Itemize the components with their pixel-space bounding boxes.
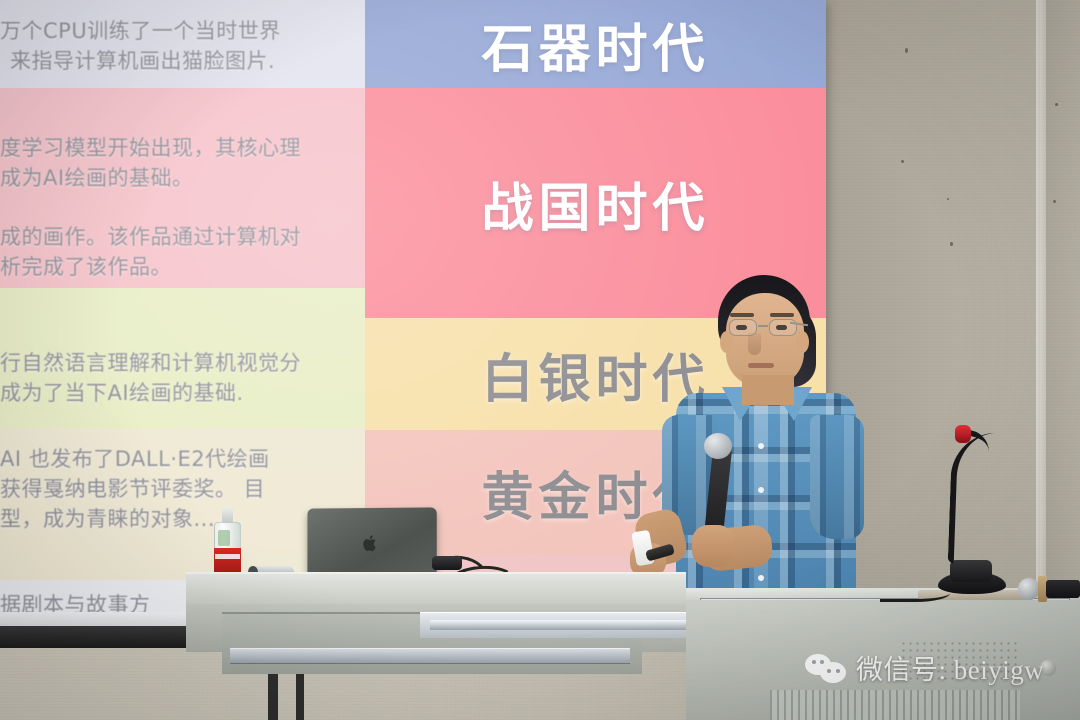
slide-text-line: AI 也发布了DALL·E2代绘画: [0, 444, 366, 474]
wall-speck: [905, 48, 908, 53]
wall-speck: [950, 242, 953, 246]
wechat-logo-icon: [805, 653, 847, 683]
right-sleeve: [810, 415, 864, 539]
wall-speck: [947, 198, 949, 200]
bottle-cap: [222, 508, 233, 523]
slide-text-line: 成为AI绘画的基础。: [0, 163, 366, 193]
shirt-button: [758, 443, 764, 449]
slide-text-line: 万个CPU训练了一个当时世界: [0, 16, 366, 46]
shirt-button: [758, 487, 764, 493]
eyebrow-right: [770, 313, 794, 317]
era-label-stone: 石器时代: [481, 7, 709, 82]
slide-text-line: 成的画作。该作品通过计算机对: [0, 222, 366, 252]
bottle-label: [214, 548, 241, 572]
era-band-stone: 石器时代: [365, 0, 826, 88]
wall-speck: [1053, 200, 1056, 203]
bottle-label-stripe: [215, 554, 240, 559]
console-vents: [770, 690, 1020, 720]
presenter-desk-top: [186, 572, 686, 604]
gooseneck-microphone-tip: [955, 425, 971, 443]
photo-canvas: 石器时代 战国时代 白银时代 黄金时代 万个CPU训练了一个当时世界: [0, 0, 1080, 720]
ear-right: [796, 331, 809, 353]
wall-speck: [1055, 103, 1058, 106]
neck: [742, 375, 794, 405]
spare-microphone-head: [1018, 578, 1040, 600]
slide-text-line: 成为了当下AI绘画的基础.: [0, 378, 366, 408]
eyeglasses-bridge: [758, 325, 768, 327]
slide-text-block-pink-b: 成的画作。该作品通过计算机对 析完成了该作品。: [0, 222, 366, 282]
desk-leg: [296, 674, 304, 720]
slide-text-line: 析完成了该作品。: [0, 252, 366, 282]
slide-text-line: 获得戛纳电影节评委奖。 目: [0, 474, 366, 504]
mouth: [748, 363, 774, 368]
slide-text-line: 度学习模型开始出现，其核心理: [0, 133, 366, 163]
slide-text-line: 行自然语言理解和计算机视觉分: [0, 348, 366, 378]
nose: [748, 333, 761, 355]
face: [726, 293, 804, 387]
presenter: [630, 275, 870, 620]
drawer-rail: [230, 648, 630, 664]
right-hand-holding-mic: [692, 525, 734, 567]
shirt-button: [758, 575, 764, 581]
cable-adapter: [432, 556, 462, 570]
handheld-microphone-head: [704, 433, 732, 459]
spare-microphone-body: [1046, 580, 1080, 598]
wechat-watermark: 微信号: beiyigw: [805, 648, 1044, 687]
slide-text-block-lavender: 万个CPU训练了一个当时世界 来指导计算机画出猫脸图片.: [0, 16, 366, 76]
slide-text-line: 来指导计算机画出猫脸图片.: [0, 46, 366, 76]
eyebrow-left: [730, 313, 754, 317]
wall-speck: [901, 160, 904, 163]
slide-text-block-pink-a: 度学习模型开始出现，其核心理 成为AI绘画的基础。: [0, 133, 366, 193]
era-label-warring-states: 战国时代: [481, 166, 709, 241]
lectern-slab-rail: [430, 620, 710, 630]
microphone-cord: [880, 584, 950, 602]
wechat-id-text: 微信号: beiyigw: [856, 648, 1044, 687]
bottle-graphic: [218, 530, 230, 546]
slide-text-block-green: 行自然语言理解和计算机视觉分 成为了当下AI绘画的基础.: [0, 348, 366, 408]
desk-leg: [268, 674, 278, 720]
apple-logo-icon: [362, 534, 379, 553]
